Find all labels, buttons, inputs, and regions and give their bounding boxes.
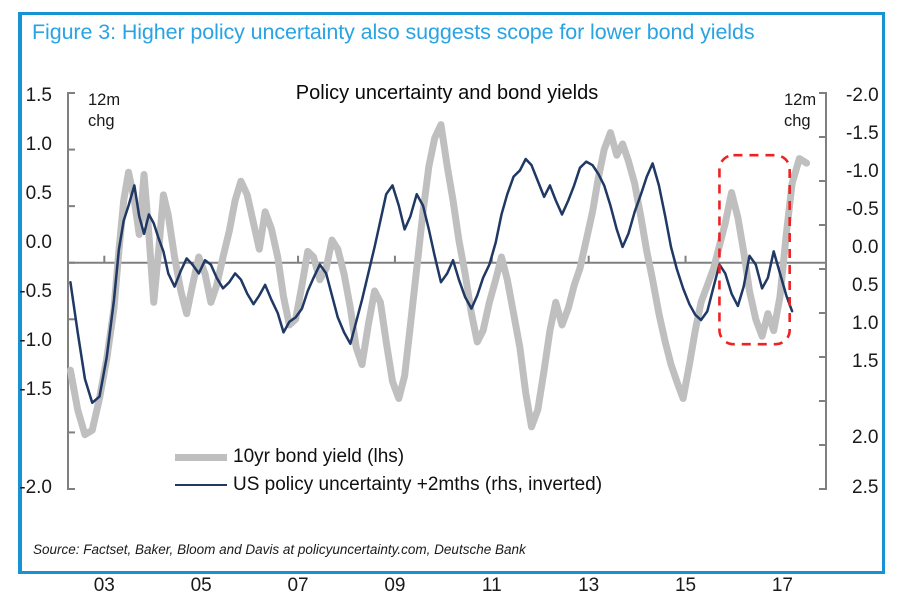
x-axis-tick-label: 09	[384, 575, 405, 597]
x-axis-labels: 0305070911131517	[0, 575, 903, 605]
figure-title: Figure 3: Higher policy uncertainty also…	[32, 20, 754, 45]
source-note: Source: Factset, Baker, Bloom and Davis …	[33, 542, 526, 557]
legend-item-bond-yield: 10yr bond yield (lhs)	[175, 443, 602, 471]
x-axis-tick-label: 07	[287, 575, 308, 597]
chart-legend: 10yr bond yield (lhs) US policy uncertai…	[175, 443, 602, 499]
chart-area: Policy uncertainty and bond yields 1.5 1…	[0, 72, 903, 527]
x-axis-tick-label: 13	[578, 575, 599, 597]
x-axis-tick-label: 11	[482, 575, 502, 597]
x-axis-tick-label: 17	[772, 575, 793, 597]
x-axis-tick-label: 05	[191, 575, 212, 597]
legend-label-bond-yield: 10yr bond yield (lhs)	[233, 446, 404, 468]
legend-label-policy-uncertainty: US policy uncertainty +2mths (rhs, inver…	[233, 474, 602, 496]
x-axis-tick-label: 15	[675, 575, 696, 597]
legend-swatch-policy-uncertainty-icon	[175, 484, 227, 487]
x-axis-tick-label: 03	[94, 575, 115, 597]
legend-item-policy-uncertainty: US policy uncertainty +2mths (rhs, inver…	[175, 471, 602, 499]
legend-swatch-bond-yield-icon	[175, 454, 227, 461]
